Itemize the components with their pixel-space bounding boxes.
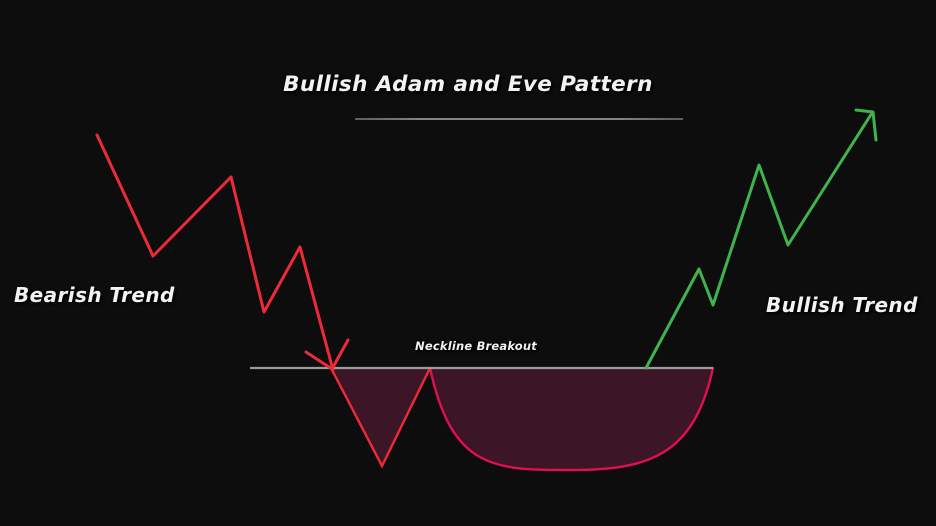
bearish-trend-label: Bearish Trend — [14, 283, 175, 307]
eve-u-fill — [430, 368, 713, 470]
diagram-canvas: Bullish Adam and Eve Pattern Bearish Tre… — [0, 0, 936, 526]
page-title: Bullish Adam and Eve Pattern — [0, 72, 936, 97]
adam-v-fill — [331, 368, 430, 466]
neckline-breakout-label: Neckline Breakout — [415, 339, 537, 353]
bullish-trend-line — [646, 113, 872, 368]
title-underline — [355, 118, 683, 120]
bearish-trend-line — [97, 135, 333, 370]
bullish-trend-label: Bullish Trend — [766, 293, 918, 317]
